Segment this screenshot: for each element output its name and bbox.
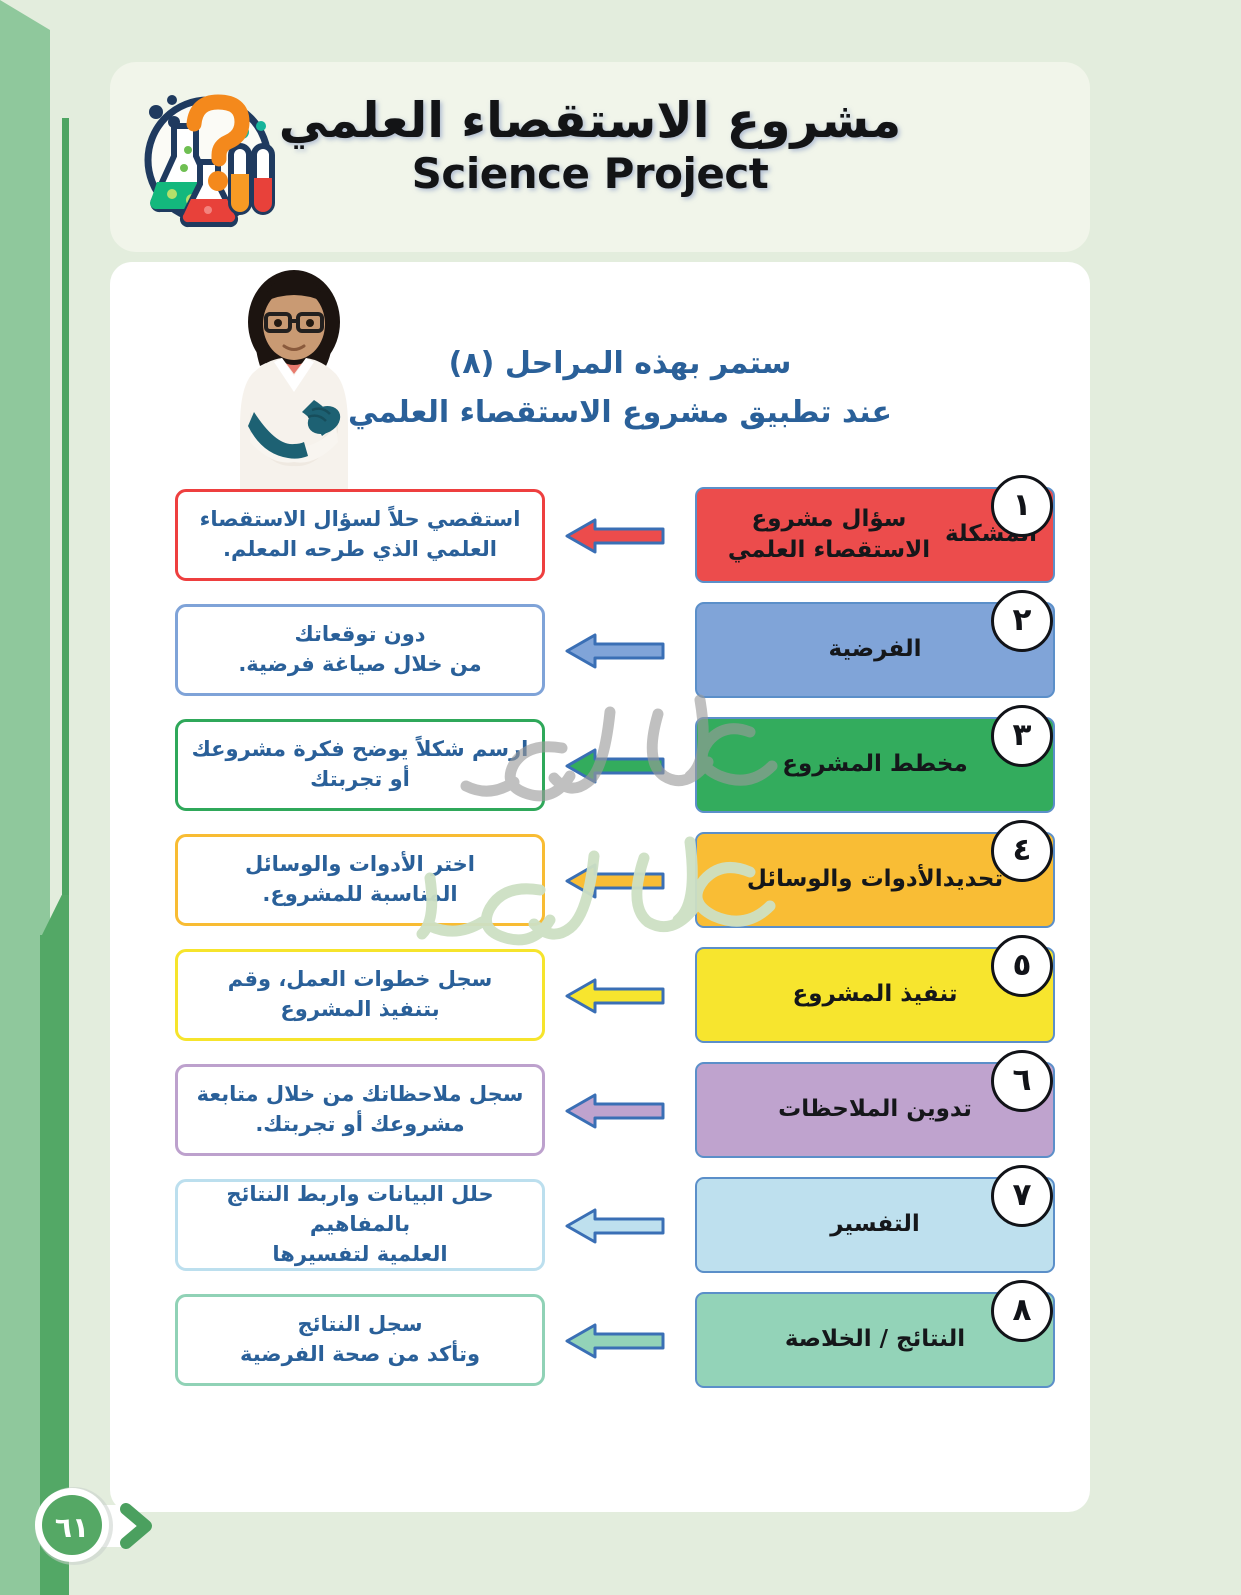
description-line-2: وتأكد من صحة الفرضية	[240, 1340, 480, 1370]
spine-line-upper	[62, 118, 69, 933]
flow-row: التفسير٧حلل البيانات واربط النتائج بالمف…	[110, 1177, 1090, 1273]
step-number-circle-8: ٨	[991, 1280, 1053, 1342]
description-text: دون توقعاتكمن خلال صياغة فرضية.	[238, 620, 481, 680]
stage-label: تدوين الملاحظات	[778, 1094, 972, 1125]
step-number-circle-2: ٢	[991, 590, 1053, 652]
description-box-8[interactable]: سجل النتائجوتأكد من صحة الفرضية	[175, 1294, 545, 1386]
description-text: سجل ملاحظاتك من خلال متابعةمشروعك أو تجر…	[197, 1080, 524, 1140]
description-box-7[interactable]: حلل البيانات واربط النتائج بالمفاهيمالعل…	[175, 1179, 545, 1271]
step-number-circle-1: ١	[991, 475, 1053, 537]
flow-arrow-1	[565, 517, 665, 555]
description-line-2: مشروعك أو تجربتك.	[197, 1110, 524, 1140]
stage-label: الفرضية	[829, 634, 922, 665]
stage-box-5[interactable]: تنفيذ المشروع٥	[695, 947, 1055, 1043]
step-number-circle-5: ٥	[991, 935, 1053, 997]
step-number-circle-3: ٣	[991, 705, 1053, 767]
flow-arrow-8	[565, 1322, 665, 1360]
description-line-1: استقصي حلاً لسؤال الاستقصاء	[200, 505, 521, 535]
steps-flow-list: المشكلةسؤال مشروع الاستقصاء العلمي١استقص…	[110, 262, 1090, 1512]
description-line-1: حلل البيانات واربط النتائج بالمفاهيم	[190, 1180, 530, 1240]
page-number-badge: ٦١	[26, 1485, 176, 1567]
description-line-1: اختر الأدوات والوسائل	[245, 850, 475, 880]
description-line-2: العلمية لتفسيرها	[190, 1240, 530, 1270]
description-line-2: من خلال صياغة فرضية.	[238, 650, 481, 680]
stage-box-7[interactable]: التفسير٧	[695, 1177, 1055, 1273]
description-text: سجل النتائجوتأكد من صحة الفرضية	[240, 1310, 480, 1370]
step-number-circle-4: ٤	[991, 820, 1053, 882]
stage-box-6[interactable]: تدوين الملاحظات٦	[695, 1062, 1055, 1158]
description-line-2: المناسبة للمشروع.	[245, 880, 475, 910]
stage-box-2[interactable]: الفرضية٢	[695, 602, 1055, 698]
flow-row: النتائج / الخلاصة٨سجل النتائجوتأكد من صح…	[110, 1292, 1090, 1388]
step-number-circle-7: ٧	[991, 1165, 1053, 1227]
flow-arrow-3	[565, 747, 665, 785]
content-card: ستمر بهذه المراحل (٨) عند تطبيق مشروع ال…	[110, 262, 1090, 1512]
flow-row: مخطط المشروع٣ارسم شكلاً يوضح فكرة مشروعك…	[110, 717, 1090, 813]
stage-box-4[interactable]: تحديدالأدوات والوسائل٤	[695, 832, 1055, 928]
stage-label: تنفيذ المشروع	[793, 979, 958, 1010]
description-line-1: ارسم شكلاً يوضح فكرة مشروعك	[192, 735, 529, 765]
stage-label-secondary: الأدوات والوسائل	[747, 864, 943, 895]
header-title-group: مشروع الاستقصاء العلمي Science Project	[240, 90, 940, 198]
page-number-text: ٦١	[55, 1511, 89, 1544]
page-root: مشروع الاستقصاء العلمي Science Project	[0, 0, 1241, 1595]
flow-arrow-7	[565, 1207, 665, 1245]
description-line-1: دون توقعاتك	[238, 620, 481, 650]
science-flasks-question-icon	[130, 82, 282, 234]
stage-label: مخطط المشروع	[782, 749, 968, 780]
flow-row: الفرضية٢دون توقعاتكمن خلال صياغة فرضية.	[110, 602, 1090, 698]
description-text: سجل خطوات العمل، وقمبتنفيذ المشروع	[228, 965, 493, 1025]
description-text: حلل البيانات واربط النتائج بالمفاهيمالعل…	[190, 1180, 530, 1269]
stage-box-8[interactable]: النتائج / الخلاصة٨	[695, 1292, 1055, 1388]
description-text: ارسم شكلاً يوضح فكرة مشروعكأو تجربتك	[192, 735, 529, 795]
stage-label: تحديد	[943, 864, 1003, 895]
flow-arrow-5	[565, 977, 665, 1015]
description-box-2[interactable]: دون توقعاتكمن خلال صياغة فرضية.	[175, 604, 545, 696]
description-box-5[interactable]: سجل خطوات العمل، وقمبتنفيذ المشروع	[175, 949, 545, 1041]
header-card: مشروع الاستقصاء العلمي Science Project	[110, 62, 1090, 252]
description-line-2: العلمي الذي طرحه المعلم.	[200, 535, 521, 565]
description-box-3[interactable]: ارسم شكلاً يوضح فكرة مشروعكأو تجربتك	[175, 719, 545, 811]
description-line-2: بتنفيذ المشروع	[228, 995, 493, 1025]
description-box-1[interactable]: استقصي حلاً لسؤال الاستقصاءالعلمي الذي ط…	[175, 489, 545, 581]
description-line-1: سجل النتائج	[240, 1310, 480, 1340]
stage-label: النتائج / الخلاصة	[785, 1324, 965, 1355]
flow-row: تنفيذ المشروع٥سجل خطوات العمل، وقمبتنفيذ…	[110, 947, 1090, 1043]
description-line-1: سجل ملاحظاتك من خلال متابعة	[197, 1080, 524, 1110]
stage-label-secondary: سؤال مشروع الاستقصاء العلمي	[713, 504, 945, 566]
flow-arrow-6	[565, 1092, 665, 1130]
stage-box-1[interactable]: المشكلةسؤال مشروع الاستقصاء العلمي١	[695, 487, 1055, 583]
spine-pale-band	[69, 0, 107, 1595]
stage-label: التفسير	[830, 1209, 920, 1240]
description-text: اختر الأدوات والوسائلالمناسبة للمشروع.	[245, 850, 475, 910]
description-box-4[interactable]: اختر الأدوات والوسائلالمناسبة للمشروع.	[175, 834, 545, 926]
page-title-english: Science Project	[240, 149, 940, 198]
description-text: استقصي حلاً لسؤال الاستقصاءالعلمي الذي ط…	[200, 505, 521, 565]
flow-arrow-2	[565, 632, 665, 670]
stage-box-3[interactable]: مخطط المشروع٣	[695, 717, 1055, 813]
flow-row: تحديدالأدوات والوسائل٤اختر الأدوات والوس…	[110, 832, 1090, 928]
page-title-arabic: مشروع الاستقصاء العلمي	[240, 90, 940, 151]
description-line-2: أو تجربتك	[192, 765, 529, 795]
flow-arrow-4	[565, 862, 665, 900]
description-box-6[interactable]: سجل ملاحظاتك من خلال متابعةمشروعك أو تجر…	[175, 1064, 545, 1156]
step-number-circle-6: ٦	[991, 1050, 1053, 1112]
description-line-1: سجل خطوات العمل، وقم	[228, 965, 493, 995]
flow-row: المشكلةسؤال مشروع الاستقصاء العلمي١استقص…	[110, 487, 1090, 583]
flow-row: تدوين الملاحظات٦سجل ملاحظاتك من خلال متا…	[110, 1062, 1090, 1158]
